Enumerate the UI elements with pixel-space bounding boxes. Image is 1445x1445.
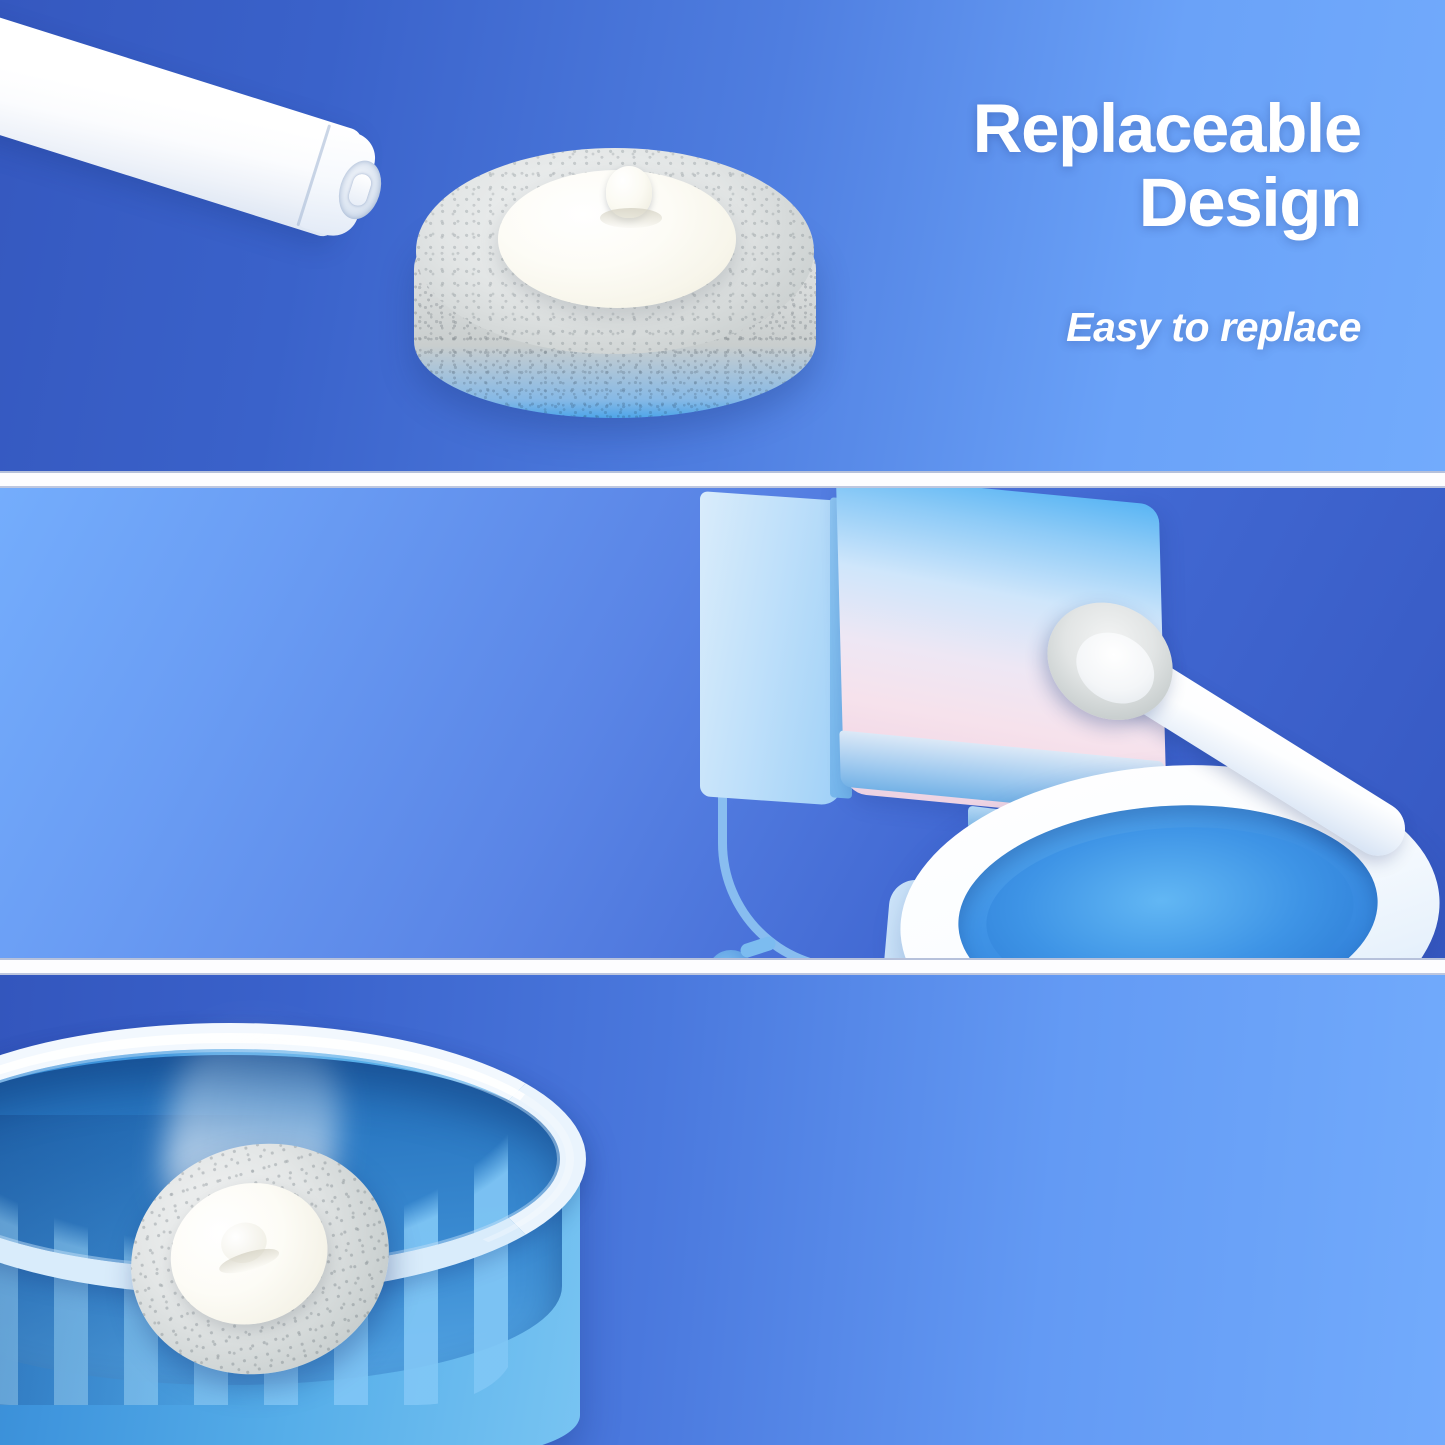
infographic-sheet: Replaceable Design Easy to replace	[0, 0, 1445, 1445]
panel-1-subline: Easy to replace	[661, 302, 1361, 353]
toilet-tank	[700, 491, 842, 806]
toilet-valve-arm	[739, 935, 778, 958]
panel-divider-2	[0, 958, 1445, 975]
toilet-supply-hose	[718, 788, 928, 958]
panel-higher-cleaning-efficiency: Higher cleaning Efficiency Multiple angl…	[0, 488, 1445, 958]
panel-1-headline-line-1: Replaceable	[661, 92, 1361, 166]
panel-divider-1	[0, 471, 1445, 488]
panel-1-text-block: Replaceable Design Easy to replace	[661, 92, 1361, 352]
bucket-illustration	[0, 997, 620, 1445]
toilet-illustration	[690, 488, 1445, 958]
panel-replaceable-design: Replaceable Design Easy to replace	[0, 0, 1445, 471]
panel-1-headline-line-2: Design	[661, 166, 1361, 240]
sponge-connector-slot	[600, 208, 662, 228]
wand-handle-illustration	[0, 7, 413, 255]
panel-one-click-discard: One-click discard Clean and hygienic	[0, 975, 1445, 1445]
